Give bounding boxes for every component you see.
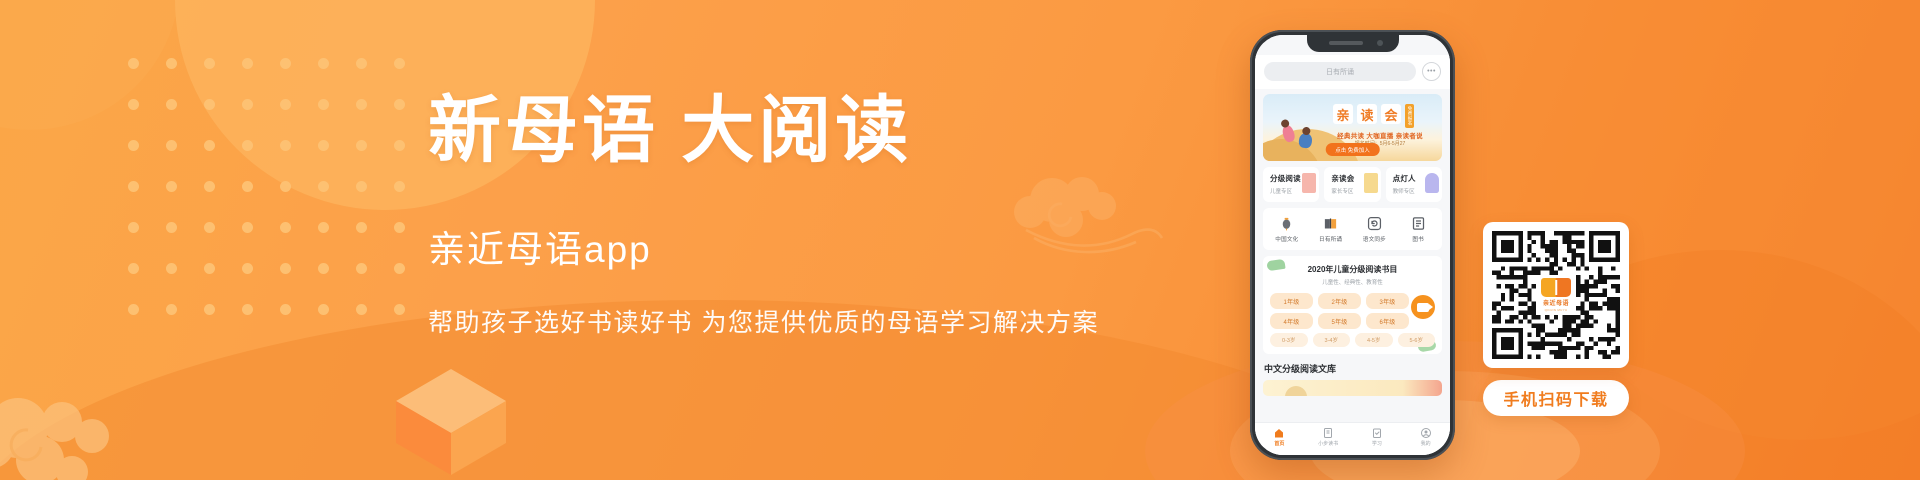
grade-row: 4年级5年级6年级 [1270, 313, 1435, 329]
booklist-title: 2020年儿童分级阅读书目 [1270, 264, 1435, 275]
quick-icon-item[interactable]: 图书 [1396, 216, 1440, 243]
refresh-square-icon [1367, 216, 1382, 231]
checklist-icon [1371, 426, 1383, 438]
app-name-subtitle: 亲近母语app [428, 219, 1208, 273]
grid-dot [356, 99, 367, 110]
banner-tagline: 帮助孩子选好书读好书 为您提供优质的母语学习解决方案 [428, 303, 1208, 339]
tab-home[interactable]: 首页 [1255, 426, 1304, 455]
promo-title-char: 亲 [1333, 104, 1353, 124]
grid-dot [128, 304, 139, 315]
library-card[interactable] [1263, 380, 1442, 396]
grid-dot [242, 222, 253, 233]
grid-dot [242, 304, 253, 315]
grid-dot [280, 58, 291, 69]
quick-icon-label: 日有所诵 [1319, 235, 1342, 243]
grid-dot [204, 263, 215, 274]
grid-dot [166, 263, 177, 274]
grid-dot [242, 58, 253, 69]
home-icon [1273, 426, 1285, 438]
grid-dot [204, 304, 215, 315]
phone-screen-frame: 日有所诵 ••• 亲 读 会 免费报名 经典共读 大咖直播 亲读者说 [1255, 35, 1450, 455]
zone-card[interactable]: 分级阅读儿童专区 [1263, 167, 1319, 202]
search-row: 日有所诵 ••• [1255, 55, 1450, 89]
grid-dot [356, 222, 367, 233]
grid-dot [318, 99, 329, 110]
zone-card[interactable]: 亲读会家长专区 [1324, 167, 1380, 202]
grid-dot [166, 304, 177, 315]
tab-user[interactable]: 我的 [1401, 426, 1450, 455]
grade-chip[interactable]: 6年级 [1366, 313, 1409, 329]
grid-dot [394, 304, 405, 315]
quick-icon-label: 图书 [1412, 235, 1424, 243]
page-title: 新母语 大阅读 [428, 92, 1208, 171]
grid-dot [204, 140, 215, 151]
promo-subtitle: 经典共读 大咖直播 亲读者说 [1327, 130, 1433, 140]
qr-code-card[interactable]: 亲近母语 QINJIN MUYU [1483, 222, 1629, 368]
quick-icon-item[interactable]: 日有所诵 [1309, 216, 1353, 243]
tab-reading[interactable]: 小步读书 [1304, 426, 1353, 455]
grid-dot [128, 263, 139, 274]
grid-dot [394, 222, 405, 233]
grid-dot [204, 181, 215, 192]
lantern-icon [1279, 216, 1294, 231]
download-button[interactable]: 手机扫码下载 [1483, 380, 1629, 416]
user-icon [1420, 426, 1432, 438]
grid-dot [128, 140, 139, 151]
grid-dot [318, 304, 329, 315]
grid-dot [318, 263, 329, 274]
grid-dot [128, 58, 139, 69]
grid-dot [318, 140, 329, 151]
grade-chip[interactable]: 4年级 [1270, 313, 1313, 329]
promo-title: 亲 读 会 免费报名 [1333, 104, 1414, 128]
logo-name-en: QINJIN MUYU [1545, 308, 1568, 312]
grid-dot [394, 58, 405, 69]
book-icon [1411, 216, 1426, 231]
zone-art-icon [1425, 173, 1439, 193]
grid-dot [356, 58, 367, 69]
grid-dot [356, 304, 367, 315]
grid-dot [166, 58, 177, 69]
cloud-motif-bottom-icon [0, 380, 196, 480]
tab-checklist[interactable]: 学习 [1353, 426, 1402, 455]
grade-chip[interactable]: 2年级 [1318, 293, 1361, 309]
video-play-icon[interactable] [1411, 295, 1435, 319]
promo-banner: 新母语 大阅读 亲近母语app 帮助孩子选好书读好书 为您提供优质的母语学习解决… [0, 0, 1920, 480]
grid-dot [318, 181, 329, 192]
grade-chip[interactable]: 5年级 [1318, 313, 1361, 329]
grade-chip[interactable]: 3年级 [1366, 293, 1409, 309]
brand-logo-icon: 亲近母语 QINJIN MUYU [1536, 275, 1576, 315]
age-chip[interactable]: 0-3岁 [1270, 333, 1308, 347]
phone-notch [1307, 35, 1399, 52]
grid-dot [204, 99, 215, 110]
grid-dot [394, 140, 405, 151]
tab-label: 小步读书 [1318, 440, 1338, 447]
grid-dot [356, 181, 367, 192]
phone-speaker [1329, 41, 1363, 45]
grid-dot [280, 140, 291, 151]
reading-icon [1322, 426, 1334, 438]
age-chip[interactable]: 3-4岁 [1313, 333, 1351, 347]
age-chip[interactable]: 4-5岁 [1355, 333, 1393, 347]
grid-dot [166, 222, 177, 233]
grid-dot [280, 304, 291, 315]
grid-dot [280, 99, 291, 110]
grid-dot [242, 99, 253, 110]
quick-icon-item[interactable]: 语文同步 [1353, 216, 1397, 243]
tab-label: 学习 [1372, 440, 1382, 447]
grade-selector: 1年级2年级3年级 4年级5年级6年级 0-3岁3-4岁4-5岁5-6岁 [1270, 293, 1435, 347]
tab-label: 首页 [1274, 440, 1284, 447]
grid-dot [394, 181, 405, 192]
phone-mockup: 日有所诵 ••• 亲 读 会 免费报名 经典共读 大咖直播 亲读者说 [1250, 30, 1455, 460]
promo-side-tag: 免费报名 [1405, 104, 1414, 128]
quick-icon-row: 中国文化日有所诵语文同步图书 [1263, 208, 1442, 250]
bottom-tabbar: 首页小步读书学习我的 [1255, 422, 1450, 455]
grid-dot [128, 181, 139, 192]
phone-camera-icon [1377, 40, 1383, 46]
tab-label: 我的 [1421, 440, 1431, 447]
grid-dot [280, 181, 291, 192]
background-blob-secondary [0, 0, 180, 130]
zone-card-row: 分级阅读儿童专区亲读会家长专区点灯人教师专区 [1263, 167, 1442, 202]
promo-title-char: 读 [1357, 104, 1377, 124]
grid-dot [242, 181, 253, 192]
grid-dot [166, 181, 177, 192]
grid-dot [166, 140, 177, 151]
logo-name: 亲近母语 [1543, 298, 1569, 307]
grid-dot [280, 222, 291, 233]
grid-dot [242, 263, 253, 274]
grid-dot [394, 263, 405, 274]
promo-card[interactable]: 亲 读 会 免费报名 经典共读 大咖直播 亲读者说 报名时间：5月6-5月27 … [1263, 94, 1442, 161]
search-input[interactable]: 日有所诵 [1264, 62, 1416, 81]
library-title: 中文分级阅读文库 [1264, 362, 1441, 375]
grade-chip[interactable]: 1年级 [1270, 293, 1313, 309]
banner-copy: 新母语 大阅读 亲近母语app 帮助孩子选好书读好书 为您提供优质的母语学习解决… [428, 92, 1208, 339]
open-book-icon [1323, 216, 1338, 231]
more-dots-icon[interactable]: ••• [1422, 62, 1441, 81]
grid-dot [242, 140, 253, 151]
grid-dot [280, 263, 291, 274]
booklist-subtitle: 儿童性、经典性、教育性 [1270, 278, 1435, 286]
quick-icon-label: 语文同步 [1363, 235, 1386, 243]
grid-dot [394, 99, 405, 110]
grid-dot [204, 58, 215, 69]
grid-dot [204, 222, 215, 233]
app-screen: 日有所诵 ••• 亲 读 会 免费报名 经典共读 大咖直播 亲读者说 [1255, 35, 1450, 455]
promo-join-button[interactable]: 点击 免费加入 [1325, 143, 1380, 156]
grid-dot [128, 222, 139, 233]
grid-dot [128, 99, 139, 110]
grid-dot [318, 222, 329, 233]
age-chip[interactable]: 5-6岁 [1398, 333, 1436, 347]
grid-dot [356, 263, 367, 274]
zone-art-icon [1302, 173, 1316, 193]
promo-title-char: 会 [1381, 104, 1401, 124]
zone-card[interactable]: 点灯人教师专区 [1386, 167, 1442, 202]
quick-icon-label: 中国文化 [1275, 235, 1298, 243]
qr-block: 亲近母语 QINJIN MUYU 手机扫码下载 [1483, 222, 1629, 416]
isometric-cube-decoration [392, 365, 510, 480]
grid-dot [166, 99, 177, 110]
quick-icon-item[interactable]: 中国文化 [1265, 216, 1309, 243]
age-row: 0-3岁3-4岁4-5岁5-6岁 [1270, 333, 1435, 347]
zone-art-icon [1364, 173, 1378, 193]
booklist-card: 2020年儿童分级阅读书目 儿童性、经典性、教育性 1年级2年级3年级 4年级5… [1263, 256, 1442, 354]
grid-dot [318, 58, 329, 69]
grid-dot [356, 140, 367, 151]
